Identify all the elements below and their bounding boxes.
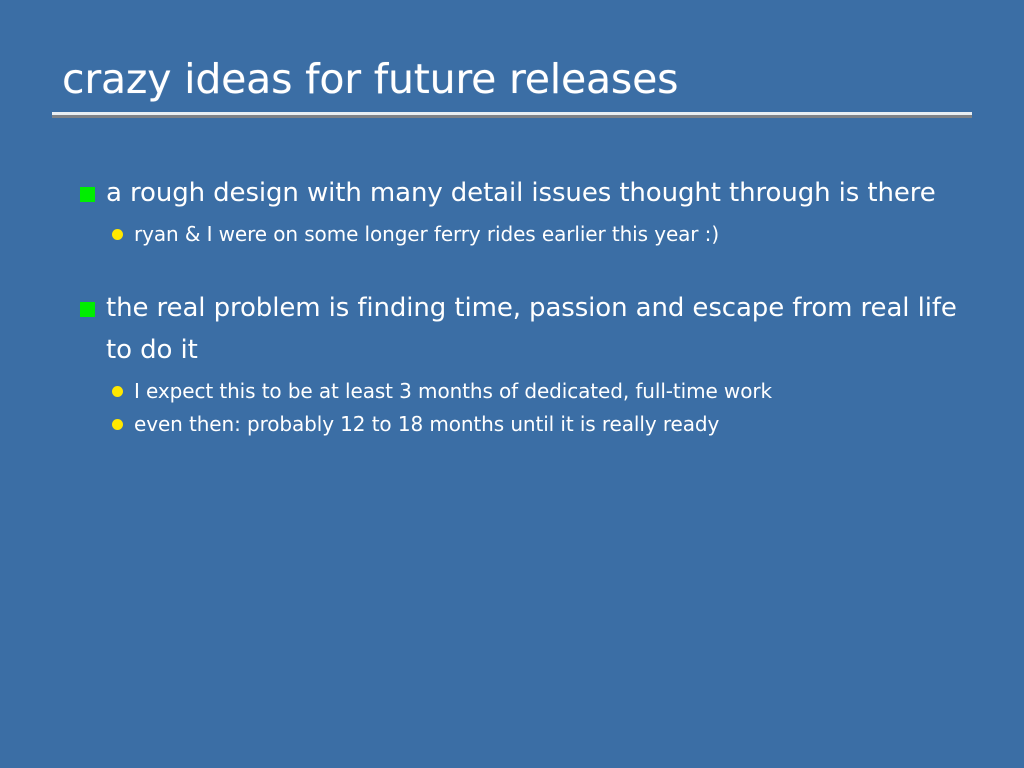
bullet-group-spacer <box>62 277 982 287</box>
square-bullet-icon <box>80 187 95 202</box>
bullet-level1-label: a rough design with many detail issues t… <box>106 178 936 208</box>
presentation-slide: crazy ideas for future releases a rough … <box>0 0 1024 768</box>
dot-bullet-icon <box>112 419 123 430</box>
bullet-level2-label: ryan & I were on some longer ferry rides… <box>134 222 719 246</box>
bullet-level1: the real problem is finding time, passio… <box>62 287 982 371</box>
bullet-group: a rough design with many detail issues t… <box>62 172 982 251</box>
bullet-level1: a rough design with many detail issues t… <box>62 172 982 214</box>
bullet-sublist: I expect this to be at least 3 months of… <box>62 375 982 441</box>
dot-bullet-icon <box>112 229 123 240</box>
slide-title-block: crazy ideas for future releases <box>52 54 972 118</box>
bullet-level2: ryan & I were on some longer ferry rides… <box>62 218 982 251</box>
bullet-level2-label: even then: probably 12 to 18 months unti… <box>134 412 719 436</box>
bullet-group: the real problem is finding time, passio… <box>62 287 982 441</box>
bullet-level2-label: I expect this to be at least 3 months of… <box>134 379 772 403</box>
square-bullet-icon <box>80 302 95 317</box>
slide-body: a rough design with many detail issues t… <box>62 172 982 441</box>
bullet-level1-label: the real problem is finding time, passio… <box>106 293 957 365</box>
bullet-level2: I expect this to be at least 3 months of… <box>62 375 982 408</box>
dot-bullet-icon <box>112 386 123 397</box>
bullet-sublist: ryan & I were on some longer ferry rides… <box>62 218 982 251</box>
title-divider <box>52 112 972 118</box>
page-title: crazy ideas for future releases <box>52 54 972 104</box>
bullet-level2: even then: probably 12 to 18 months unti… <box>62 408 982 441</box>
